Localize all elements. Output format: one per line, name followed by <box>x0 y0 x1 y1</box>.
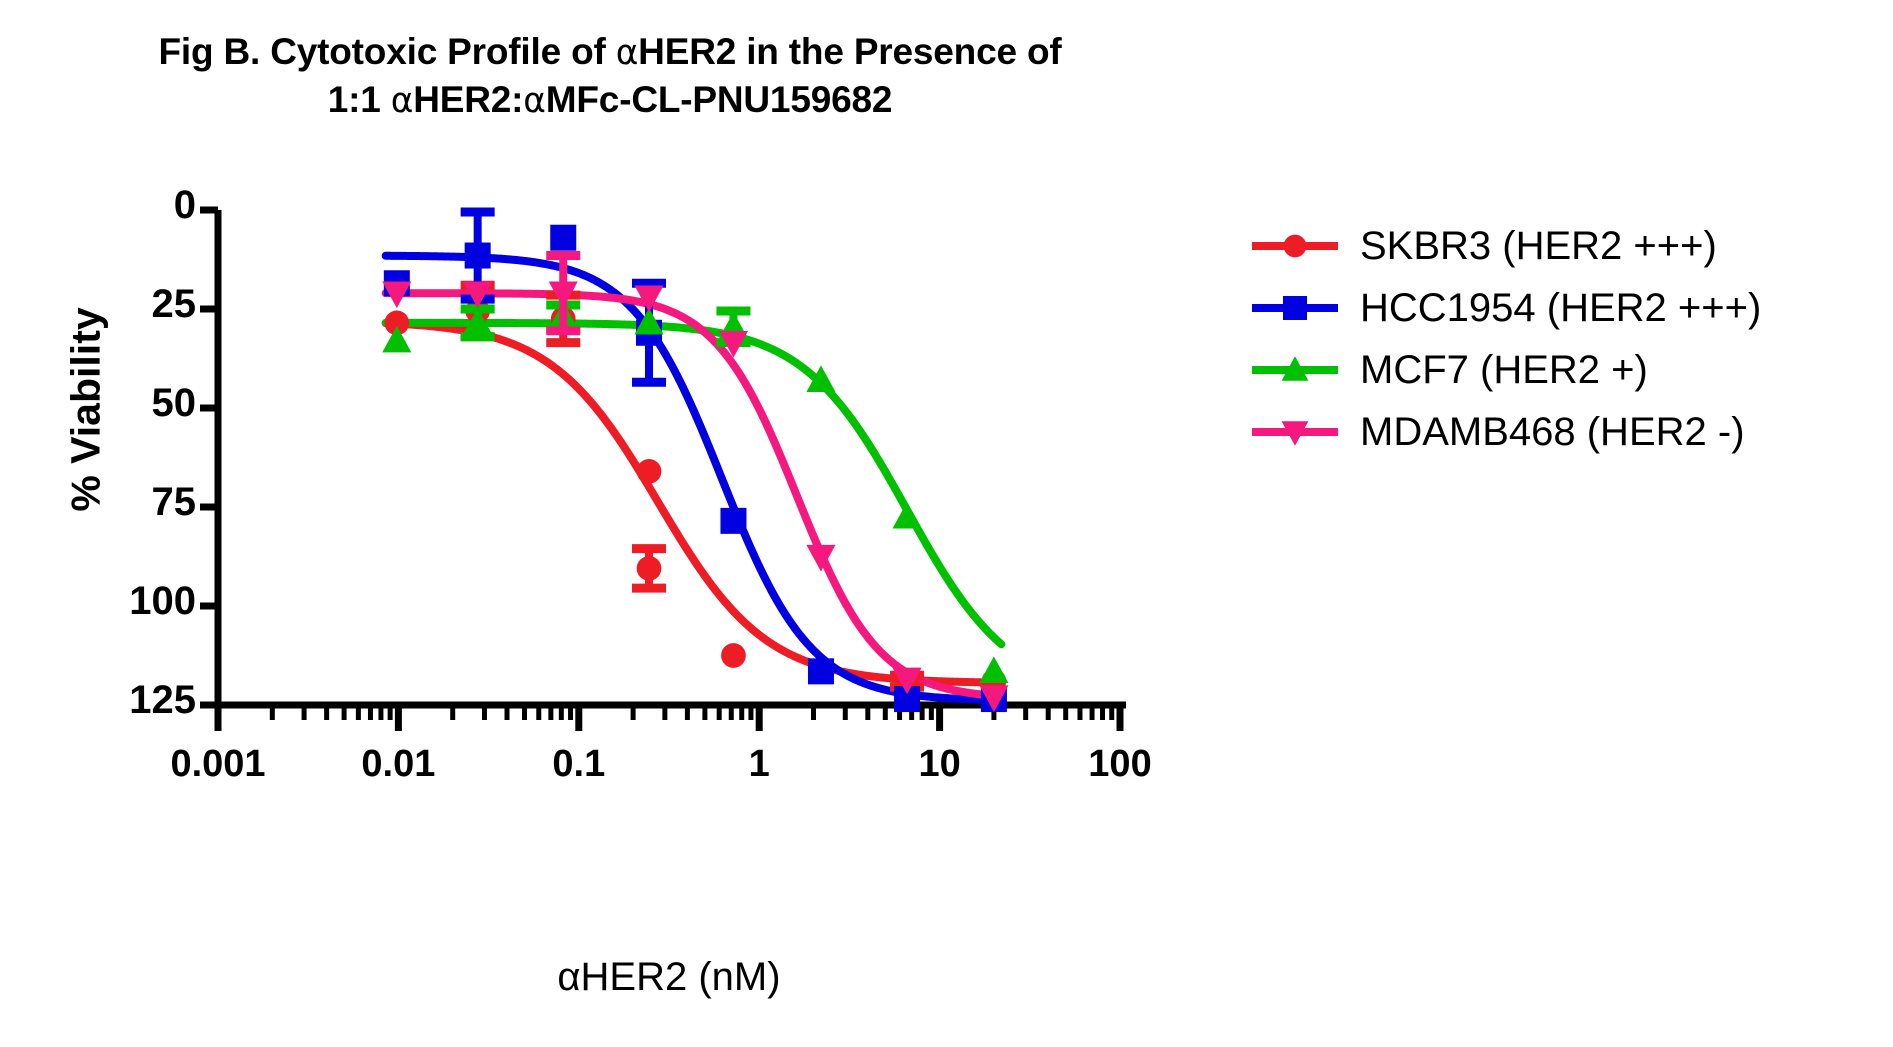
legend-item-label: HCC1954 (HER2 +++) <box>1360 286 1761 331</box>
data-point <box>720 508 746 534</box>
y-tick-label: 75 <box>36 480 196 525</box>
points-group <box>382 212 1008 712</box>
triangle-up-marker-icon <box>1248 347 1342 393</box>
legend-item-skbr3[interactable]: SKBR3 (HER2 +++) <box>1248 215 1761 277</box>
curve-mcf7 <box>386 323 1002 644</box>
data-point <box>465 243 491 269</box>
y-tick-label: 100 <box>36 579 196 624</box>
legend-item-label: MDAMB468 (HER2 -) <box>1360 410 1745 455</box>
data-point <box>892 502 921 529</box>
curve-skbr3 <box>386 323 1002 682</box>
legend-item-label: MCF7 (HER2 +) <box>1360 348 1648 393</box>
legend-item-label: SKBR3 (HER2 +++) <box>1360 224 1717 269</box>
data-point <box>808 658 834 684</box>
y-tick-label: 50 <box>36 381 196 426</box>
y-tick-label: 125 <box>36 678 196 723</box>
x-axis-title: αHER2 (nM) <box>218 955 1120 1000</box>
y-tick-label: 0 <box>36 183 196 228</box>
data-point <box>637 459 662 484</box>
legend-item-mdamb468[interactable]: MDAMB468 (HER2 -) <box>1248 401 1761 463</box>
triangle-down-marker-icon <box>1248 409 1342 455</box>
plot-canvas <box>0 0 1893 1047</box>
data-point <box>550 225 576 251</box>
curve-mdamb468 <box>386 293 1002 696</box>
y-tick-label: 25 <box>36 282 196 327</box>
legend-item-hcc1954[interactable]: HCC1954 (HER2 +++) <box>1248 277 1761 339</box>
figure-panel: Fig B. Cytotoxic Profile of αHER2 in the… <box>0 0 1893 1047</box>
square-marker-icon <box>1248 285 1342 331</box>
data-point <box>721 643 746 668</box>
legend-item-mcf7[interactable]: MCF7 (HER2 +) <box>1248 339 1761 401</box>
data-point <box>637 556 662 581</box>
data-point <box>979 656 1008 683</box>
legend: SKBR3 (HER2 +++)HCC1954 (HER2 +++)MCF7 (… <box>1248 215 1761 463</box>
circle-marker-icon <box>1248 223 1342 269</box>
x-tick-label: 100 <box>1000 743 1240 786</box>
